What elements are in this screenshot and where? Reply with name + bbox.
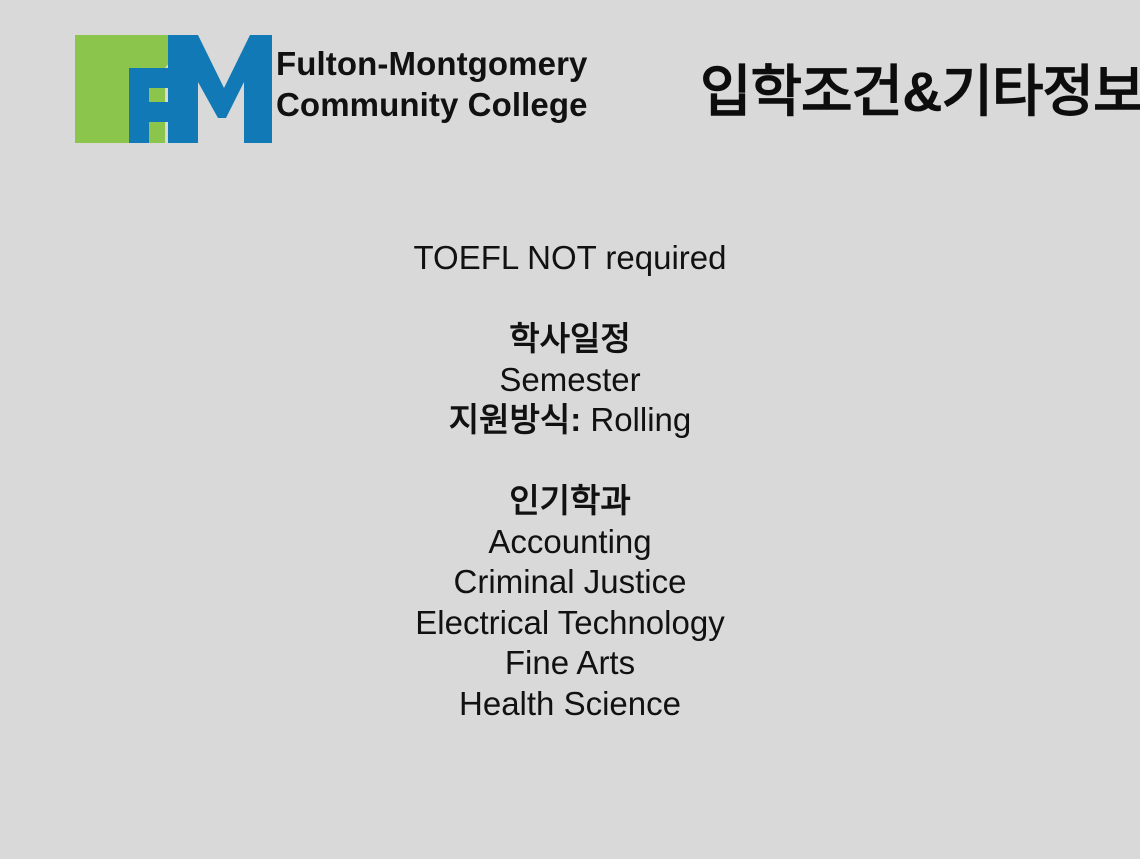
popular-majors-block: 인기학과 Accounting Criminal Justice Electri… bbox=[0, 481, 1140, 724]
intro-block: TOEFL NOT required bbox=[0, 238, 1140, 279]
block-spacer-2 bbox=[0, 441, 1140, 482]
logo-wordmark-line-2: Community College bbox=[276, 85, 588, 126]
major-item: Electrical Technology bbox=[0, 603, 1140, 644]
schedule-term: Semester bbox=[0, 360, 1140, 401]
logo-green-block bbox=[75, 35, 165, 143]
schedule-heading: 학사일정 bbox=[0, 319, 1140, 360]
block-spacer-1 bbox=[0, 279, 1140, 320]
logo-blue-m bbox=[168, 35, 272, 143]
application-method-label: 지원방식: bbox=[449, 401, 581, 438]
slide-header: Fulton-Montgomery Community College 입학조건… bbox=[0, 0, 1140, 165]
schedule-block: 학사일정 Semester 지원방식: Rolling bbox=[0, 319, 1140, 441]
logo-wordmark: Fulton-Montgomery Community College bbox=[276, 44, 588, 125]
slide-body: TOEFL NOT required 학사일정 Semester 지원방식: R… bbox=[0, 238, 1140, 724]
application-method-line: 지원방식: Rolling bbox=[0, 400, 1140, 441]
popular-majors-heading: 인기학과 bbox=[0, 481, 1140, 522]
major-item: Health Science bbox=[0, 684, 1140, 725]
logo-wordmark-line-1: Fulton-Montgomery bbox=[276, 44, 588, 85]
application-method-value: Rolling bbox=[590, 401, 691, 438]
major-item: Criminal Justice bbox=[0, 562, 1140, 603]
major-item: Accounting bbox=[0, 522, 1140, 563]
slide-canvas: Fulton-Montgomery Community College 입학조건… bbox=[0, 0, 1140, 859]
fm-logo-mark bbox=[72, 30, 272, 148]
major-item: Fine Arts bbox=[0, 643, 1140, 684]
toefl-requirement-line: TOEFL NOT required bbox=[0, 238, 1140, 279]
page-title: 입학조건&기타정보 bbox=[700, 63, 1140, 122]
